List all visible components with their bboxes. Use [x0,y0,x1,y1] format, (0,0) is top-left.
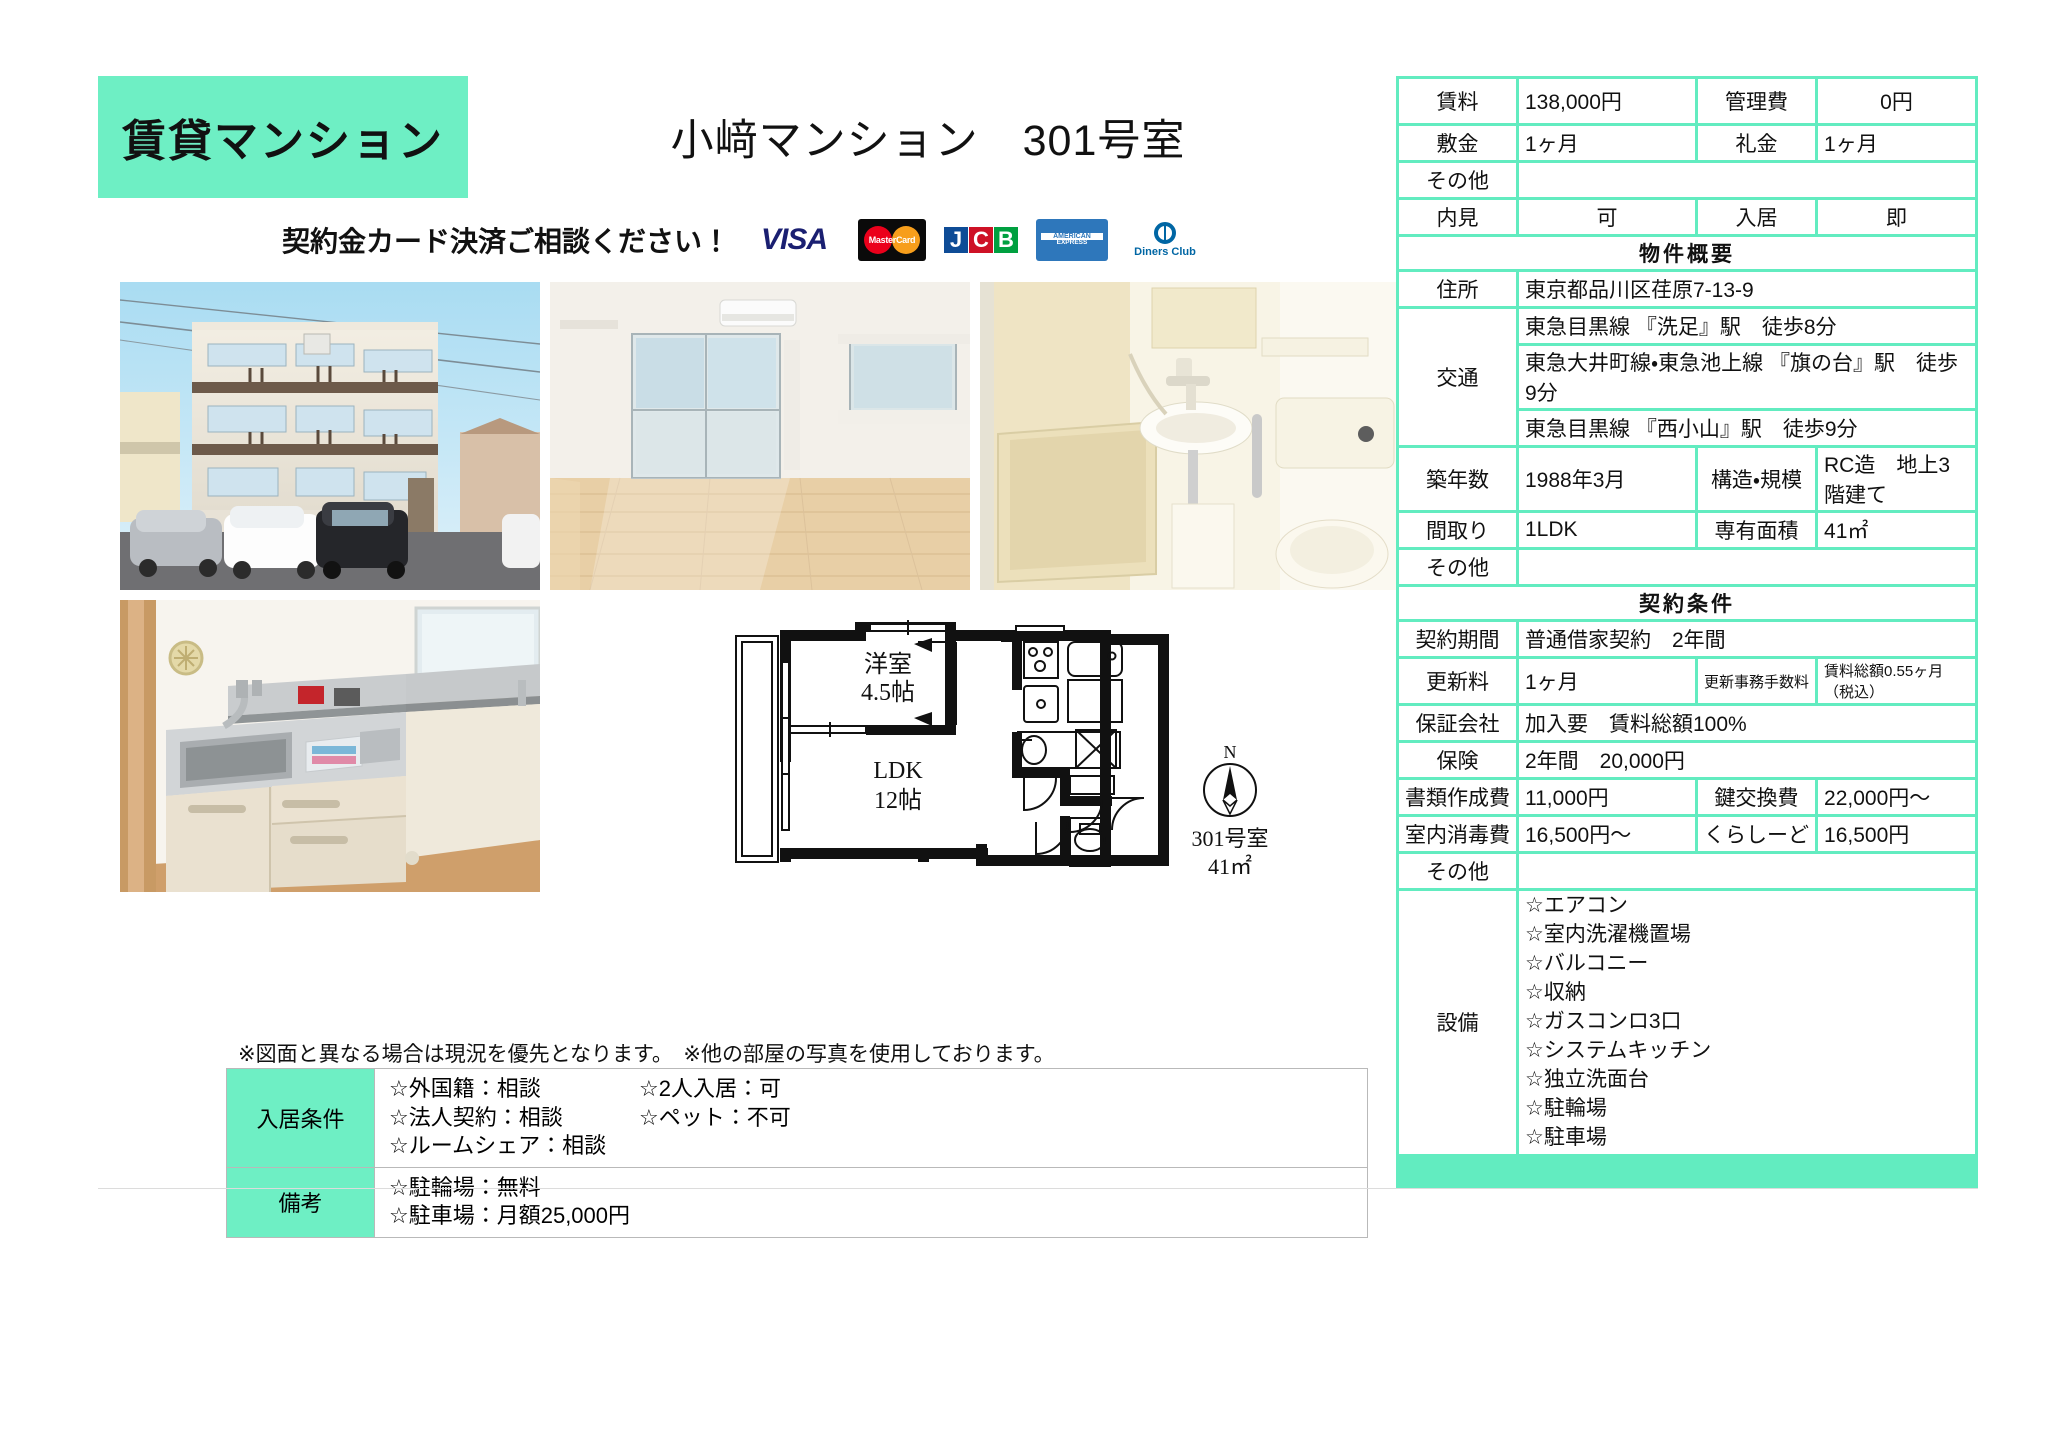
deposit-value: 1ヶ月 [1519,126,1695,160]
table-row-layout: 間取り 1LDK 専有面積 41㎡ [1399,513,1975,547]
table-row-conditions: 入居条件 ☆外国籍：相談 ☆法人契約：相談 ☆ルームシェア：相談 ☆2人入居：可… [227,1069,1368,1168]
svg-text:N: N [1224,742,1237,762]
table-row-insurance: 保険 2年間 20,000円 [1399,743,1975,777]
floorplan-room1-name: 洋室 [864,651,912,678]
title-box: 小﨑マンション 301号室 [468,76,1388,198]
property-detail-table: 賃料 138,000円 管理費 0円 敷金 1ヶ月 礼金 1ヶ月 その他 内見 … [1396,76,1978,1157]
layout-label: 間取り [1399,513,1516,547]
overview-other-value [1519,550,1975,584]
title-row: 賃貸マンション 小﨑マンション 301号室 [98,76,1388,198]
table-row-renewal: 更新料 1ヶ月 更新事務手数料 賃料総額0.55ヶ月（税込） [1399,659,1975,703]
property-type-label: 賃貸マンション [122,105,444,169]
condition-item: ☆法人契約：相談 [389,1104,639,1133]
right-column: 賃料 138,000円 管理費 0円 敷金 1ヶ月 礼金 1ヶ月 その他 内見 … [1396,76,1978,1188]
amex-icon: AMERICANEXPRESS [1036,219,1108,261]
admin-fee-label: 管理費 [1698,79,1815,123]
table-row-price-other: その他 [1399,163,1975,197]
disclaimer-note: ※図面と異なる場合は現況を優先となります。 ※他の部屋の写真を使用しております。 [238,1038,1055,1068]
price-other-value [1519,163,1975,197]
equipment-label: 設備 [1399,891,1516,1154]
structure-value: RC造 地上3階建て [1818,448,1975,510]
equipment-item: ☆ガスコンロ3口 [1525,1008,1969,1037]
table-row-guarantor: 保証会社 加入要 賃料総額100% [1399,706,1975,740]
kurashiido-value: 16,500円 [1818,817,1975,851]
table-row-address: 住所 東京都品川区荏原7-13-9 [1399,272,1975,306]
floorplan-area-label: 41㎡ [1208,854,1252,879]
table-row-term: 契約期間 普通借家契約 2年間 [1399,622,1975,656]
table-row-equipment: 設備 ☆エアコン ☆室内洗濯機置場 ☆バルコニー ☆収納 ☆ガスコンロ3口 ☆シ… [1399,891,1975,1154]
viewing-label: 内見 [1399,200,1516,234]
equipment-item: ☆駐輪場 [1525,1095,1969,1124]
conditions-label: 入居条件 [227,1069,375,1168]
structure-label: 構造・規模 [1698,448,1815,510]
card-promo-label: 契約金カード決済ご相談ください！ [282,220,730,260]
movein-label: 入居 [1698,200,1815,234]
diners-club-icon: Diners Club [1126,219,1204,261]
floorplan-room2-name: LDK [873,758,923,784]
transport-value: 東急目黒線 『西小山』駅 徒歩9分 [1519,411,1975,445]
insurance-label: 保険 [1399,743,1516,777]
condition-item: ☆2人入居：可 [639,1075,791,1104]
floor-plan: 洋室 4.5帖 LDK 12帖 N 301号室 41㎡ [718,600,1318,900]
key-exchange-label: 鍵交換費 [1698,780,1815,814]
viewing-value: 可 [1519,200,1695,234]
page-footer-area [98,1188,1978,1446]
table-row-transport-1: 交通 東急目黒線 『洗足』駅 徒歩8分 [1399,309,1975,343]
area-label: 専有面積 [1698,513,1815,547]
equipment-item: ☆室内洗濯機置場 [1525,921,1969,950]
overview-other-label: その他 [1399,550,1516,584]
table-row-viewing: 内見 可 入居 即 [1399,200,1975,234]
photo-kitchen[interactable] [120,600,540,892]
condition-item: ☆ペット：不可 [639,1104,791,1133]
table-row-contract-other: その他 [1399,854,1975,888]
rent-value: 138,000円 [1519,79,1695,123]
equipment-item: ☆システムキッチン [1525,1037,1969,1066]
contract-other-value [1519,854,1975,888]
table-row-disinfect: 室内消毒費 16,500円〜 くらしーど 16,500円 [1399,817,1975,851]
built-label: 築年数 [1399,448,1516,510]
deposit-label: 敷金 [1399,126,1516,160]
docs-label: 書類作成費 [1399,780,1516,814]
key-money-value: 1ヶ月 [1818,126,1975,160]
key-money-label: 礼金 [1698,126,1815,160]
area-value: 41㎡ [1818,513,1975,547]
contract-section-title: 契約条件 [1399,587,1975,619]
table-row-docs: 書類作成費 11,000円 鍵交換費 22,000円〜 [1399,780,1975,814]
term-label: 契約期間 [1399,622,1516,656]
table-row-overview-other: その他 [1399,550,1975,584]
address-label: 住所 [1399,272,1516,306]
disinfect-label: 室内消毒費 [1399,817,1516,851]
conditions-values: ☆外国籍：相談 ☆法人契約：相談 ☆ルームシェア：相談 ☆2人入居：可 ☆ペット… [375,1069,1368,1168]
jcb-icon: JCB [944,219,1018,261]
table-row-overview-header: 物件概要 [1399,237,1975,269]
property-type-badge: 賃貸マンション [98,76,468,198]
guarantor-value: 加入要 賃料総額100% [1519,706,1975,740]
renewal-value: 1ヶ月 [1519,659,1695,703]
layout-value: 1LDK [1519,513,1695,547]
price-other-label: その他 [1399,163,1516,197]
table-row-rent: 賃料 138,000円 管理費 0円 [1399,79,1975,123]
table-row-contract-header: 契約条件 [1399,587,1975,619]
address-value: 東京都品川区荏原7-13-9 [1519,272,1975,306]
equipment-item: ☆エアコン [1525,892,1969,921]
rent-label: 賃料 [1399,79,1516,123]
insurance-value: 2年間 20,000円 [1519,743,1975,777]
equipment-item: ☆駐車場 [1525,1124,1969,1153]
built-value: 1988年3月 [1519,448,1695,510]
mastercard-icon: MasterCard [858,219,926,261]
overview-section-title: 物件概要 [1399,237,1975,269]
docs-value: 11,000円 [1519,780,1695,814]
equipment-item: ☆独立洗面台 [1525,1066,1969,1095]
transport-value: 東急大井町線・東急池上線 『旗の台』駅 徒歩9分 [1519,346,1975,408]
left-column: 賃貸マンション 小﨑マンション 301号室 契約金カード決済ご相談ください！ V… [98,76,1388,1188]
photo-living-room[interactable] [550,282,970,590]
floorplan-room2-size: 12帖 [874,787,922,814]
contract-other-label: その他 [1399,854,1516,888]
equipment-item: ☆収納 [1525,979,1969,1008]
renewal-fee-value: 賃料総額0.55ヶ月（税込） [1818,659,1975,703]
floorplan-room1-size: 4.5帖 [861,679,915,706]
movein-value: 即 [1818,200,1975,234]
renewal-label: 更新料 [1399,659,1516,703]
visa-icon: VISA [748,219,840,261]
equipment-list: ☆エアコン ☆室内洗濯機置場 ☆バルコニー ☆収納 ☆ガスコンロ3口 ☆システム… [1519,891,1975,1154]
table-row-built: 築年数 1988年3月 構造・規模 RC造 地上3階建て [1399,448,1975,510]
kurashiido-label: くらしーど [1698,817,1815,851]
listing-sheet: 賃貸マンション 小﨑マンション 301号室 契約金カード決済ご相談ください！ V… [98,76,1978,1188]
card-payment-row: 契約金カード決済ご相談ください！ VISA MasterCard JCB AME… [98,204,1388,276]
photo-bathroom[interactable] [980,282,1400,590]
equipment-item: ☆バルコニー [1525,950,1969,979]
page-title: 小﨑マンション 301号室 [671,106,1186,168]
term-value: 普通借家契約 2年間 [1519,622,1975,656]
floorplan-unit-label: 301号室 [1191,826,1268,851]
transport-label: 交通 [1399,309,1516,445]
table-row-deposit: 敷金 1ヶ月 礼金 1ヶ月 [1399,126,1975,160]
admin-fee-value: 0円 [1818,79,1975,123]
photo-exterior[interactable] [120,282,540,590]
renewal-fee-label: 更新事務手数料 [1698,659,1815,703]
condition-item: ☆ルームシェア：相談 [389,1132,639,1161]
key-exchange-value: 22,000円〜 [1818,780,1975,814]
transport-value: 東急目黒線 『洗足』駅 徒歩8分 [1519,309,1975,343]
guarantor-label: 保証会社 [1399,706,1516,740]
disinfect-value: 16,500円〜 [1519,817,1695,851]
condition-item: ☆外国籍：相談 [389,1075,639,1104]
